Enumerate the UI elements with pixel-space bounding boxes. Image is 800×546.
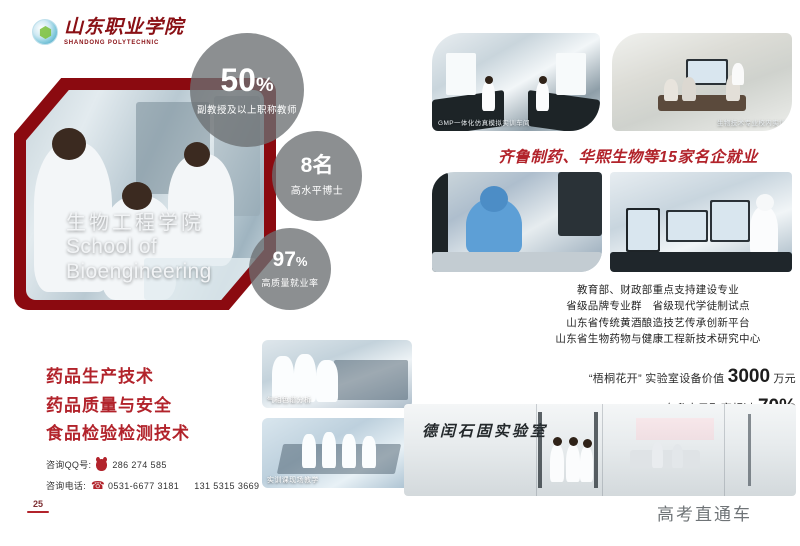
photo-shape-person	[302, 434, 316, 468]
qq-icon	[96, 459, 107, 471]
brochure-page: 山东职业学院 SHANDONG POLYTECHNIC 生物工程学院 Schoo…	[0, 0, 800, 546]
contact-qq-value: 286 274 585	[112, 460, 166, 470]
mini-photo-chromatography: 气相色谱分析	[262, 340, 412, 408]
accolade-item: 山东省生物药物与健康工程新技术研究中心	[520, 331, 796, 347]
majors-list: 药品生产技术 药品质量与安全 食品检验检测技术	[46, 368, 190, 454]
accolades-list: 教育部、财政部重点支持建设专业 省级品牌专业群 省级现代学徒制试点 山东省传统黄…	[520, 282, 796, 347]
page-number-underline	[27, 511, 49, 513]
logo-text: 山东职业学院 SHANDONG POLYTECHNIC	[64, 18, 184, 46]
kpi-line1-pre: “梧桐花开” 实验室设备价值	[589, 373, 728, 385]
photo-shape-person	[550, 444, 564, 482]
photo-shape-head	[480, 186, 508, 212]
hero-title-en-2: Bioengineering	[66, 260, 212, 284]
photo-shape-instrument	[710, 200, 750, 242]
school-logo: 山东职业学院 SHANDONG POLYTECHNIC	[32, 18, 184, 46]
photo-shape-person	[482, 81, 495, 111]
photo-shape-machine	[558, 172, 602, 236]
mini-photo-training-class: 实训课现场教学	[262, 418, 412, 488]
photo-shape-head	[184, 142, 210, 167]
photo-shape-person	[750, 206, 778, 256]
kpi-line1-post: 万元	[770, 373, 796, 385]
photo-shape-head	[569, 437, 578, 446]
stat-value: 50%	[220, 64, 273, 96]
photo-caption: GMP一体化仿真模拟实训车间	[438, 117, 530, 127]
stat-caption: 高质量就业率	[261, 276, 318, 289]
major-item: 药品质量与安全	[46, 397, 190, 416]
mini-photo-caption: 实训课现场教学	[267, 475, 319, 485]
photo-shape-person	[682, 77, 696, 101]
hero-title: 生物工程学院 School of Bioengineering	[66, 212, 212, 284]
photo-shape-hood	[556, 53, 586, 95]
accolade-item: 山东省传统黄酒酿造技艺传承创新平台	[520, 315, 796, 331]
photo-shape-head	[485, 76, 493, 84]
logo-name-cn: 山东职业学院	[64, 18, 184, 37]
contact-phone-label: 咨询电话:	[46, 479, 86, 492]
accolade-item: 教育部、财政部重点支持建设专业	[520, 282, 796, 298]
photo-shape-cap	[756, 194, 774, 211]
photo-shape-person	[316, 360, 338, 402]
photo-shape-bench	[610, 252, 792, 272]
photo-shape-signage	[636, 418, 714, 440]
photo-shape-head	[583, 439, 592, 448]
photo-divider	[724, 404, 725, 496]
page-number-value: 25	[27, 500, 49, 509]
page-number: 25	[27, 500, 49, 513]
photo-shape-person	[536, 81, 549, 111]
photo-seminar-room: 生物技术专业校内实训	[612, 33, 792, 131]
logo-emblem-icon	[32, 19, 58, 45]
contact-phone-value-2: 131 5315 3669	[194, 481, 259, 491]
contact-qq-row: 咨询QQ号: 286 274 585	[46, 458, 259, 471]
logo-name-en: SHANDONG POLYTECHNIC	[64, 40, 184, 46]
photo-gmp-workshop: GMP一体化仿真模拟实训车间	[432, 33, 600, 131]
photo-divider	[536, 404, 537, 496]
stat-caption: 副教授及以上职称教师	[197, 102, 297, 116]
major-item: 食品检验检测技术	[46, 425, 190, 444]
photo-shape-person	[652, 442, 663, 468]
photo-shape-head	[553, 437, 562, 446]
contact-qq-label: 咨询QQ号:	[46, 458, 91, 471]
photo-shape-person	[580, 446, 593, 482]
stat-value: 8名	[301, 155, 334, 176]
photo-shape-door	[748, 414, 751, 486]
contact-phone-value-1: 0531-6677 3181	[108, 481, 179, 491]
stat-caption: 高水平博士	[291, 182, 344, 197]
hero-title-en-1: School of	[66, 235, 212, 259]
photo-shape-person	[362, 436, 376, 468]
pano-wall-calligraphy: 德闰石固实验室	[422, 420, 548, 441]
photo-shape-person	[566, 444, 580, 482]
photo-shape-monitor	[666, 210, 708, 242]
mini-photo-caption: 气相色谱分析	[267, 395, 311, 405]
stat-circle-employment: 97% 高质量就业率	[249, 228, 331, 310]
photo-shape-head	[52, 128, 86, 160]
photo-shape-door	[594, 412, 598, 488]
contact-block: 咨询QQ号: 286 274 585 咨询电话: ☎ 0531-6677 318…	[46, 458, 259, 500]
photo-lab-panorama: 德闰石固实验室	[404, 404, 796, 496]
photo-cleanroom	[432, 172, 602, 272]
stat-value: 97%	[273, 249, 308, 270]
photo-shape-person	[322, 432, 336, 468]
photo-shape-counter	[432, 252, 602, 272]
photo-shape-counter	[630, 450, 700, 468]
employment-headline: 齐鲁制药、华熙生物等15家名企就业	[498, 145, 798, 167]
photo-shape-door	[538, 412, 542, 488]
kpi-equipment-value: “梧桐花开” 实验室设备价值 3000 万元	[520, 362, 796, 392]
photo-caption: 生物技术专业校内实训	[717, 117, 786, 127]
photo-shape-head	[122, 182, 152, 210]
photo-shape-hood	[446, 53, 476, 95]
photo-shape-bench	[334, 360, 408, 400]
photo-shape-head	[539, 76, 547, 84]
photo-shape-person	[664, 79, 678, 101]
contact-phone-row: 咨询电话: ☎ 0531-6677 3181 131 5315 3669	[46, 479, 259, 492]
stat-circle-doctors: 8名 高水平博士	[272, 131, 362, 221]
photo-divider	[602, 404, 603, 496]
photo-shape-bench	[277, 444, 401, 474]
photo-instrument-analysis	[610, 172, 792, 272]
stat-circle-faculty: 50% 副教授及以上职称教师	[190, 33, 304, 147]
accolade-item: 省级品牌专业群 省级现代学徒制试点	[520, 298, 796, 314]
hero-title-cn: 生物工程学院	[66, 212, 212, 235]
footer-brand: 高考直通车	[657, 500, 752, 525]
phone-icon: ☎	[91, 480, 103, 492]
kpi-line1-big: 3000	[728, 366, 770, 387]
photo-shape-person	[732, 63, 744, 85]
photo-shape-person	[672, 444, 683, 468]
photo-shape-tower	[626, 208, 660, 252]
major-item: 药品生产技术	[46, 368, 190, 387]
photo-shape-person	[342, 434, 356, 468]
